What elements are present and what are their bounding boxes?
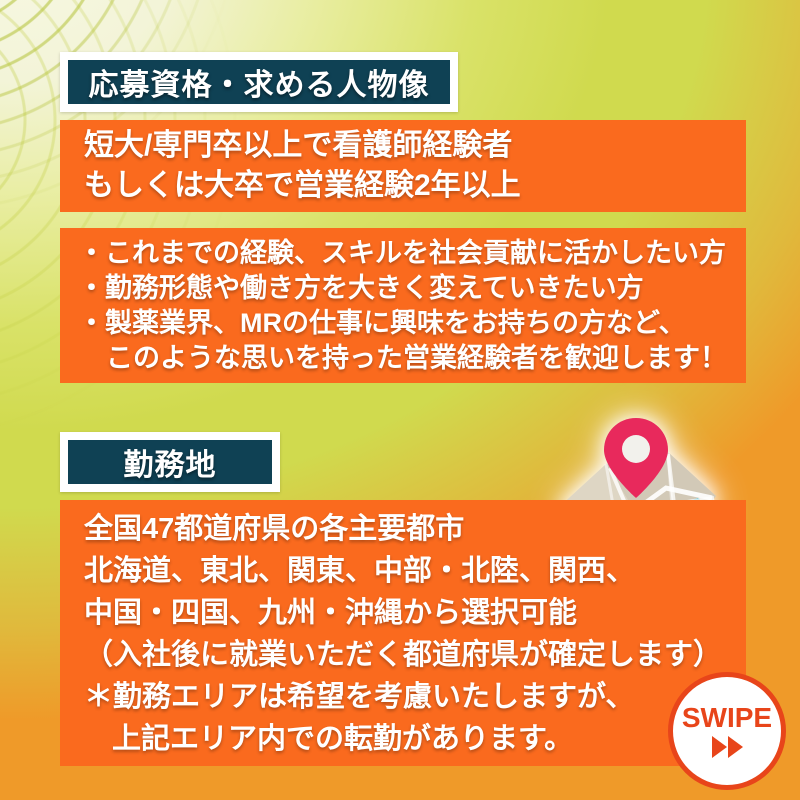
panel-qualification: 短大/専門卒以上で看護師経験者 もしくは大卒で営業経験2年以上 <box>60 120 746 212</box>
heading-inner-plate: 応募資格・求める人物像 <box>68 60 450 104</box>
bullet-item: ・製薬業界、MRの仕事に興味をお持ちの方など、 <box>78 306 746 341</box>
panel-applicant-bullets: ・これまでの経験、スキルを社会貢献に活かしたい方 ・勤務形態や働き方を大きく変え… <box>60 228 746 383</box>
triangle-2 <box>728 736 743 758</box>
qualification-line-2: もしくは大卒で営業経験2年以上 <box>84 166 746 206</box>
location-line: 中国・四国、九州・沖縄から選択可能 <box>84 592 746 634</box>
location-line: （入社後に就業いただく都道府県が確定します） <box>84 634 746 676</box>
heading-inner-plate: 勤務地 <box>68 440 272 484</box>
section-heading-location: 勤務地 <box>60 432 280 492</box>
triangle-1 <box>712 736 727 758</box>
location-line: 全国47都道府県の各主要都市 <box>84 508 746 550</box>
bullet-item: ・これまでの経験、スキルを社会貢献に活かしたい方 <box>78 236 746 271</box>
qualification-line-1: 短大/専門卒以上で看護師経験者 <box>84 126 746 166</box>
bullet-item: ・勤務形態や働き方を大きく変えていきたい方 <box>78 271 746 306</box>
panel-work-location: 全国47都道府県の各主要都市 北海道、東北、関東、中部・北陸、関西、 中国・四国… <box>60 500 746 766</box>
swipe-button[interactable]: SWIPE <box>668 672 786 790</box>
heading-label-location: 勤務地 <box>124 440 217 484</box>
slide-canvas: 応募資格・求める人物像 短大/専門卒以上で看護師経験者 もしくは大卒で営業経験2… <box>0 0 800 800</box>
section-heading-qualification: 応募資格・求める人物像 <box>60 52 458 112</box>
location-note: ＊勤務エリアは希望を考慮いたしますが、 <box>84 676 746 718</box>
double-right-triangle-icon <box>712 736 743 758</box>
bullet-item-continuation: このような思いを持った営業経験者を歓迎します！ <box>106 341 746 376</box>
heading-label-qualification: 応募資格・求める人物像 <box>89 60 430 104</box>
location-note-continuation: 上記エリア内での転勤があります。 <box>112 718 746 760</box>
location-line: 北海道、東北、関東、中部・北陸、関西、 <box>84 550 746 592</box>
swipe-label: SWIPE <box>682 704 772 732</box>
